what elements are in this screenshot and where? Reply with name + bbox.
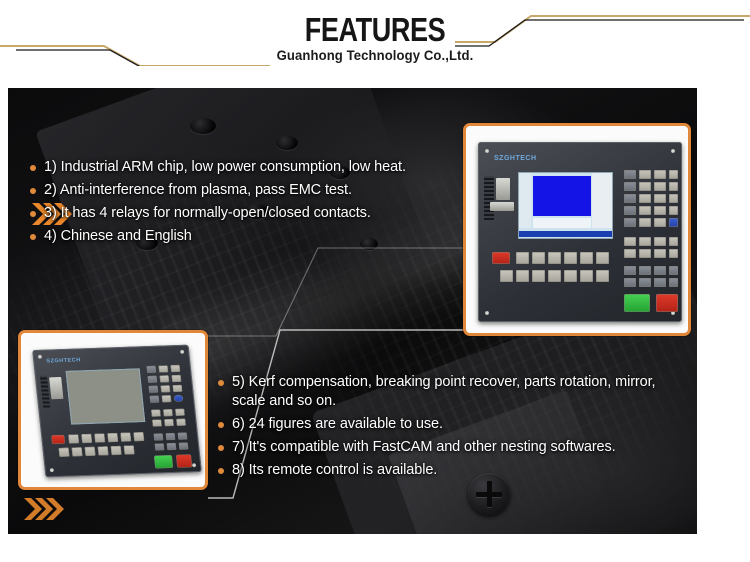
feature-text: 3) It has 4 relays for normally-open/clo…	[44, 204, 371, 223]
soft-key[interactable]	[624, 249, 636, 258]
usb-port	[49, 377, 63, 399]
soft-key[interactable]	[654, 237, 666, 246]
bullet-dot-icon	[30, 211, 36, 217]
keypad-key[interactable]	[624, 194, 636, 203]
function-key-f2[interactable]	[532, 252, 545, 264]
keypad-key[interactable]	[654, 218, 666, 227]
function-key-f6[interactable]	[596, 252, 609, 264]
keypad-key[interactable]	[173, 385, 183, 392]
screen-left-pane	[519, 173, 531, 228]
bullet-dot-icon	[218, 468, 224, 474]
page-header: FEATURES Guanhong Technology Co.,Ltd.	[0, 0, 750, 88]
keypad-key[interactable]	[639, 182, 651, 191]
arrow-up-key[interactable]	[669, 278, 678, 287]
soft-key[interactable]	[151, 409, 161, 416]
arrow-down-key[interactable]	[639, 278, 651, 287]
usb-shroud	[490, 202, 514, 211]
feature-text: 6) 24 figures are available to use.	[232, 415, 443, 434]
keypad-key[interactable]	[624, 170, 636, 179]
control-key[interactable]	[516, 270, 529, 282]
control-key[interactable]	[548, 270, 561, 282]
company-name: Guanhong Technology Co.,Ltd.	[11, 48, 739, 63]
control-key[interactable]	[564, 270, 577, 282]
features-list-top: 1) Industrial ARM chip, low power consum…	[30, 158, 440, 250]
controller-screen	[518, 172, 613, 239]
controller-screen	[66, 368, 146, 424]
keypad-key[interactable]	[624, 206, 636, 215]
enter-key[interactable]	[669, 218, 678, 227]
control-key[interactable]	[59, 448, 70, 457]
list-item: 5) Kerf compensation, breaking point rec…	[218, 373, 688, 411]
keypad-key[interactable]	[639, 218, 651, 227]
mount-screw-icon	[671, 149, 675, 153]
feature-text: 8) Its remote control is available.	[232, 461, 437, 480]
feature-text: 5) Kerf compensation, breaking point rec…	[232, 373, 688, 411]
function-key-f5[interactable]	[580, 252, 593, 264]
list-item: 8) Its remote control is available.	[218, 461, 688, 480]
keypad-key[interactable]	[162, 395, 172, 402]
soft-key[interactable]	[669, 237, 678, 246]
control-key[interactable]	[532, 270, 545, 282]
soft-key[interactable]	[175, 409, 185, 416]
bullet-dot-icon	[30, 234, 36, 240]
list-item: 2) Anti-interference from plasma, pass E…	[30, 181, 440, 200]
control-key[interactable]	[111, 446, 122, 455]
vent-grille	[484, 176, 494, 220]
keypad-key[interactable]	[654, 206, 666, 215]
jog-key[interactable]	[654, 266, 666, 275]
soft-key[interactable]	[639, 249, 651, 258]
keypad-key[interactable]	[669, 170, 678, 179]
mount-screw-icon	[485, 311, 489, 315]
screen-status-area	[533, 218, 591, 228]
keypad-key[interactable]	[624, 218, 636, 227]
function-key-f4[interactable]	[564, 252, 577, 264]
feature-text: 4) Chinese and English	[44, 227, 192, 246]
arrow-left-key[interactable]	[624, 278, 636, 287]
keypad-key[interactable]	[149, 386, 159, 393]
function-key-f1[interactable]	[516, 252, 529, 264]
arrow-up-key[interactable]	[154, 433, 164, 440]
keypad-key[interactable]	[161, 385, 171, 392]
keypad-key[interactable]	[624, 182, 636, 191]
arrow-right-key[interactable]	[179, 442, 189, 449]
screen-right-pane	[592, 173, 612, 228]
soft-key[interactable]	[654, 249, 666, 258]
feature-text: 2) Anti-interference from plasma, pass E…	[44, 181, 352, 200]
bullet-dot-icon	[30, 165, 36, 171]
mount-screw-icon	[38, 355, 42, 359]
emergency-key[interactable]	[492, 252, 510, 264]
control-key[interactable]	[580, 270, 593, 282]
list-item: 7) It's compatible with FastCAM and othe…	[218, 438, 688, 457]
screen-menu-bar	[519, 231, 612, 237]
control-key[interactable]	[500, 270, 513, 282]
jog-key[interactable]	[669, 266, 678, 275]
soft-key[interactable]	[176, 419, 186, 426]
mount-screw-icon	[192, 463, 196, 467]
triple-chevron-icon-bottom	[22, 496, 66, 527]
soft-key[interactable]	[164, 419, 174, 426]
stop-button[interactable]	[656, 294, 678, 312]
keypad-key[interactable]	[160, 375, 170, 382]
start-button[interactable]	[154, 455, 173, 469]
function-key-f2[interactable]	[81, 434, 92, 443]
features-panel: 1) Industrial ARM chip, low power consum…	[8, 88, 697, 534]
keypad-key[interactable]	[654, 170, 666, 179]
keypad-key[interactable]	[172, 375, 182, 382]
list-item: 1) Industrial ARM chip, low power consum…	[30, 158, 440, 177]
feature-text: 7) It's compatible with FastCAM and othe…	[232, 438, 616, 457]
soft-key[interactable]	[152, 419, 162, 426]
keypad-key[interactable]	[639, 194, 651, 203]
cnc-controller-angled: SZGHTECH	[32, 345, 202, 478]
usb-port	[496, 178, 510, 200]
controller-brand-label: SZGHTECH	[494, 155, 537, 162]
soft-key[interactable]	[624, 237, 636, 246]
control-key[interactable]	[85, 447, 96, 456]
bullet-dot-icon	[218, 445, 224, 451]
keypad-key[interactable]	[158, 365, 168, 372]
keypad-key[interactable]	[669, 182, 678, 191]
arrow-down-key[interactable]	[167, 443, 177, 450]
keypad-key[interactable]	[654, 182, 666, 191]
stop-button[interactable]	[176, 454, 192, 467]
keypad-key[interactable]	[146, 366, 156, 373]
control-key[interactable]	[124, 445, 135, 454]
soft-key[interactable]	[669, 249, 678, 258]
function-key-f5[interactable]	[120, 432, 131, 441]
keypad-key[interactable]	[669, 206, 678, 215]
arrow-left-key[interactable]	[155, 443, 165, 450]
product-photo-main[interactable]: SZGHTECH	[463, 123, 691, 336]
keypad-key[interactable]	[171, 365, 181, 372]
control-key[interactable]	[72, 447, 83, 456]
function-key-f1[interactable]	[68, 434, 79, 443]
keypad-key[interactable]	[669, 194, 678, 203]
function-key-f6[interactable]	[133, 432, 144, 441]
emergency-key[interactable]	[51, 435, 65, 444]
keypad-key[interactable]	[639, 206, 651, 215]
function-key-f3[interactable]	[548, 252, 561, 264]
jog-key[interactable]	[639, 266, 651, 275]
start-button[interactable]	[624, 294, 650, 312]
function-key-f4[interactable]	[107, 433, 118, 442]
mount-screw-icon	[50, 468, 54, 472]
list-item: 3) It has 4 relays for normally-open/clo…	[30, 204, 440, 223]
list-item: 4) Chinese and English	[30, 227, 440, 246]
bullet-dot-icon	[218, 422, 224, 428]
list-item: 6) 24 figures are available to use.	[218, 415, 688, 434]
screen-canvas	[533, 176, 591, 216]
mount-screw-icon	[180, 350, 184, 354]
bullet-dot-icon	[30, 188, 36, 194]
product-photo-secondary[interactable]: SZGHTECH	[18, 330, 208, 490]
bullet-dot-icon	[218, 380, 224, 386]
arrow-right-key[interactable]	[654, 278, 666, 287]
jog-key[interactable]	[178, 433, 188, 440]
soft-key[interactable]	[163, 409, 173, 416]
keypad-key[interactable]	[654, 194, 666, 203]
function-key-f3[interactable]	[94, 433, 105, 442]
feature-text: 1) Industrial ARM chip, low power consum…	[44, 158, 406, 177]
controller-brand-label: SZGHTECH	[46, 357, 81, 364]
jog-key[interactable]	[166, 433, 176, 440]
cnc-controller-front: SZGHTECH	[478, 142, 682, 322]
jog-key[interactable]	[624, 266, 636, 275]
features-list-bottom: 5) Kerf compensation, breaking point rec…	[218, 373, 688, 484]
soft-key[interactable]	[639, 237, 651, 246]
keypad-key[interactable]	[639, 170, 651, 179]
keypad-key[interactable]	[148, 376, 158, 383]
mount-screw-icon	[485, 149, 489, 153]
keypad-key[interactable]	[150, 396, 160, 403]
page-title: FEATURES	[68, 12, 683, 48]
control-key[interactable]	[98, 446, 109, 455]
control-key[interactable]	[596, 270, 609, 282]
